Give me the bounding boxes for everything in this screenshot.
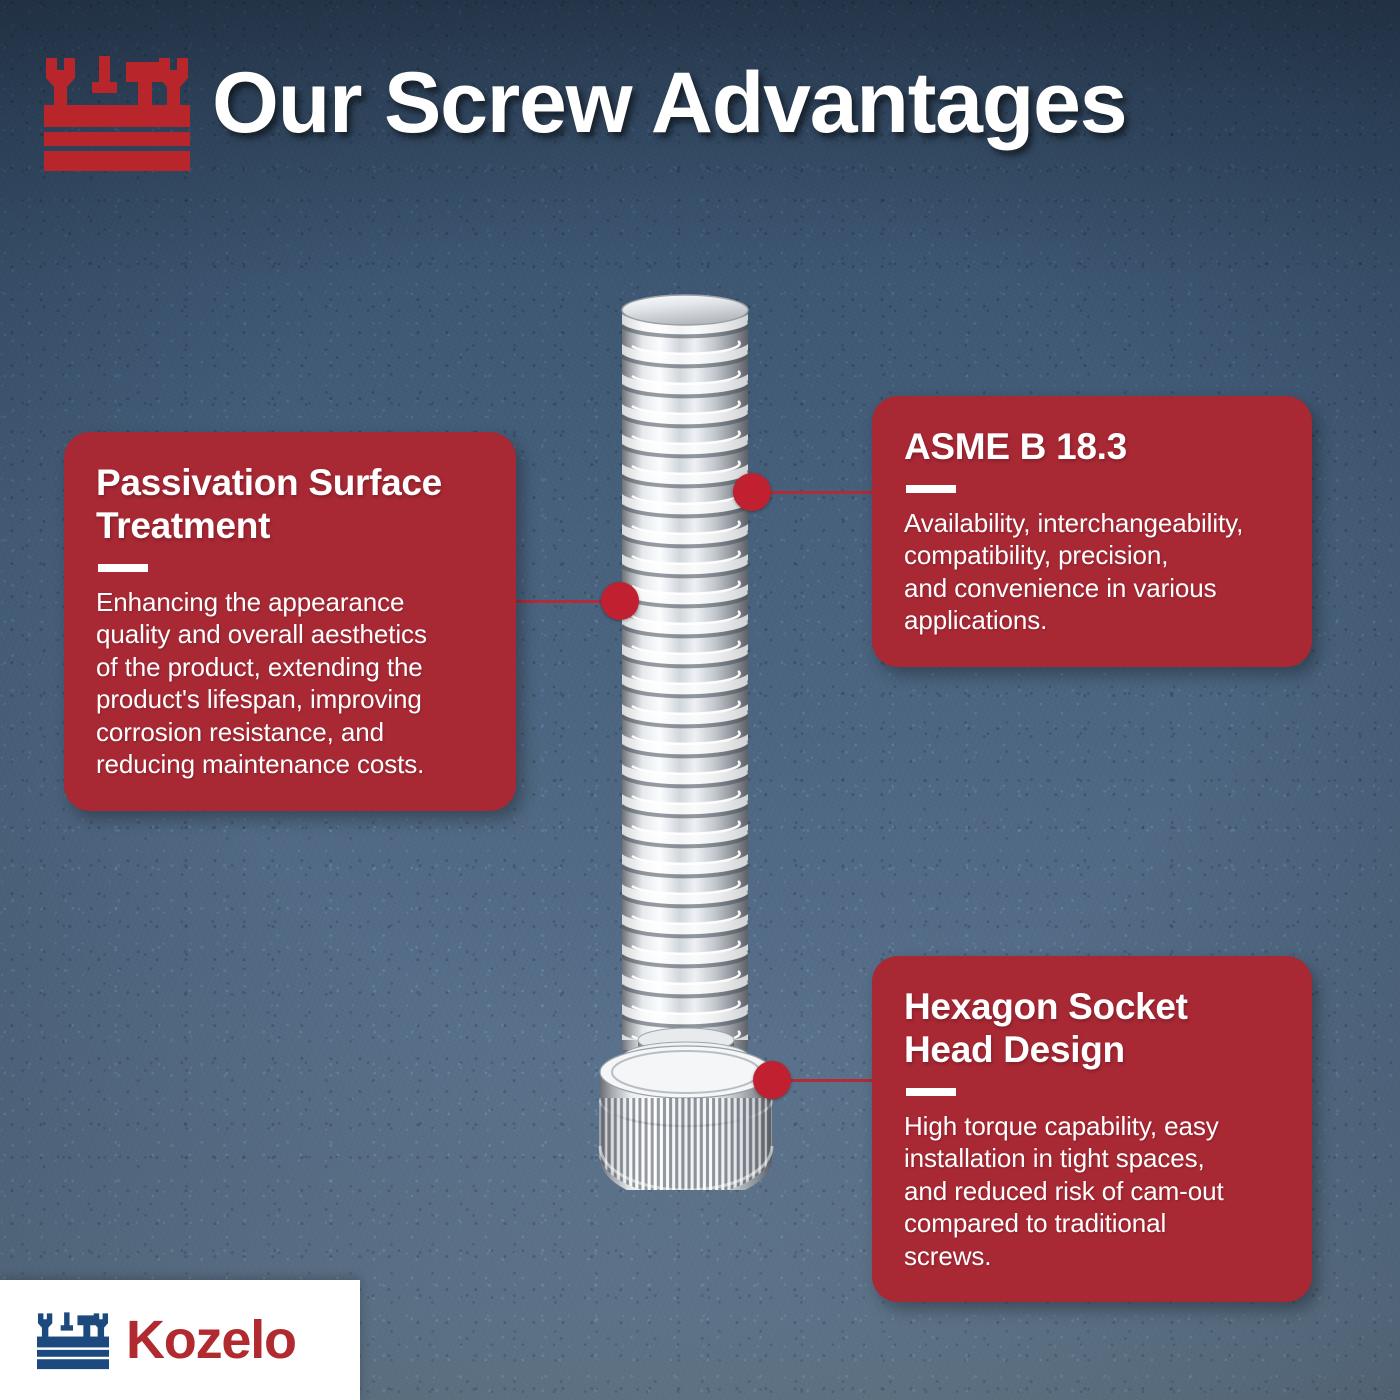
callout-rule <box>906 1088 956 1096</box>
callout-card-hexagon[interactable]: Hexagon Socket Head Design High torque c… <box>872 956 1312 1302</box>
callout-body-hexagon: High torque capability, easy installatio… <box>904 1110 1278 1273</box>
callout-body-asme: Availability, interchangeability, compat… <box>904 507 1278 637</box>
callout-title-hexagon: Hexagon Socket Head Design <box>904 986 1278 1072</box>
screw-illustration <box>560 280 840 1190</box>
connector-dot-asme <box>733 473 771 511</box>
callout-card-passivation[interactable]: Passivation Surface Treatment Enhancing … <box>64 432 516 811</box>
connector-dot-hexagon <box>753 1061 791 1099</box>
page-title: Our Screw Advantages <box>212 60 1126 146</box>
callout-title-asme: ASME B 18.3 <box>904 426 1278 469</box>
callout-rule <box>98 564 148 572</box>
callout-body-passivation: Enhancing the appearance quality and ove… <box>96 586 482 781</box>
callout-rule <box>906 485 956 493</box>
toolbox-icon <box>42 52 192 172</box>
connector-dot-passivation <box>601 582 639 620</box>
callout-title-passivation: Passivation Surface Treatment <box>96 462 482 548</box>
infographic-canvas: Our Screw Advantages <box>0 0 1400 1400</box>
toolbox-icon <box>36 1308 110 1372</box>
brand-name: Kozelo <box>126 1313 296 1367</box>
header: Our Screw Advantages <box>0 0 1400 200</box>
callout-card-asme[interactable]: ASME B 18.3 Availability, interchangeabi… <box>872 396 1312 667</box>
brand-logo[interactable]: Kozelo <box>0 1280 360 1400</box>
